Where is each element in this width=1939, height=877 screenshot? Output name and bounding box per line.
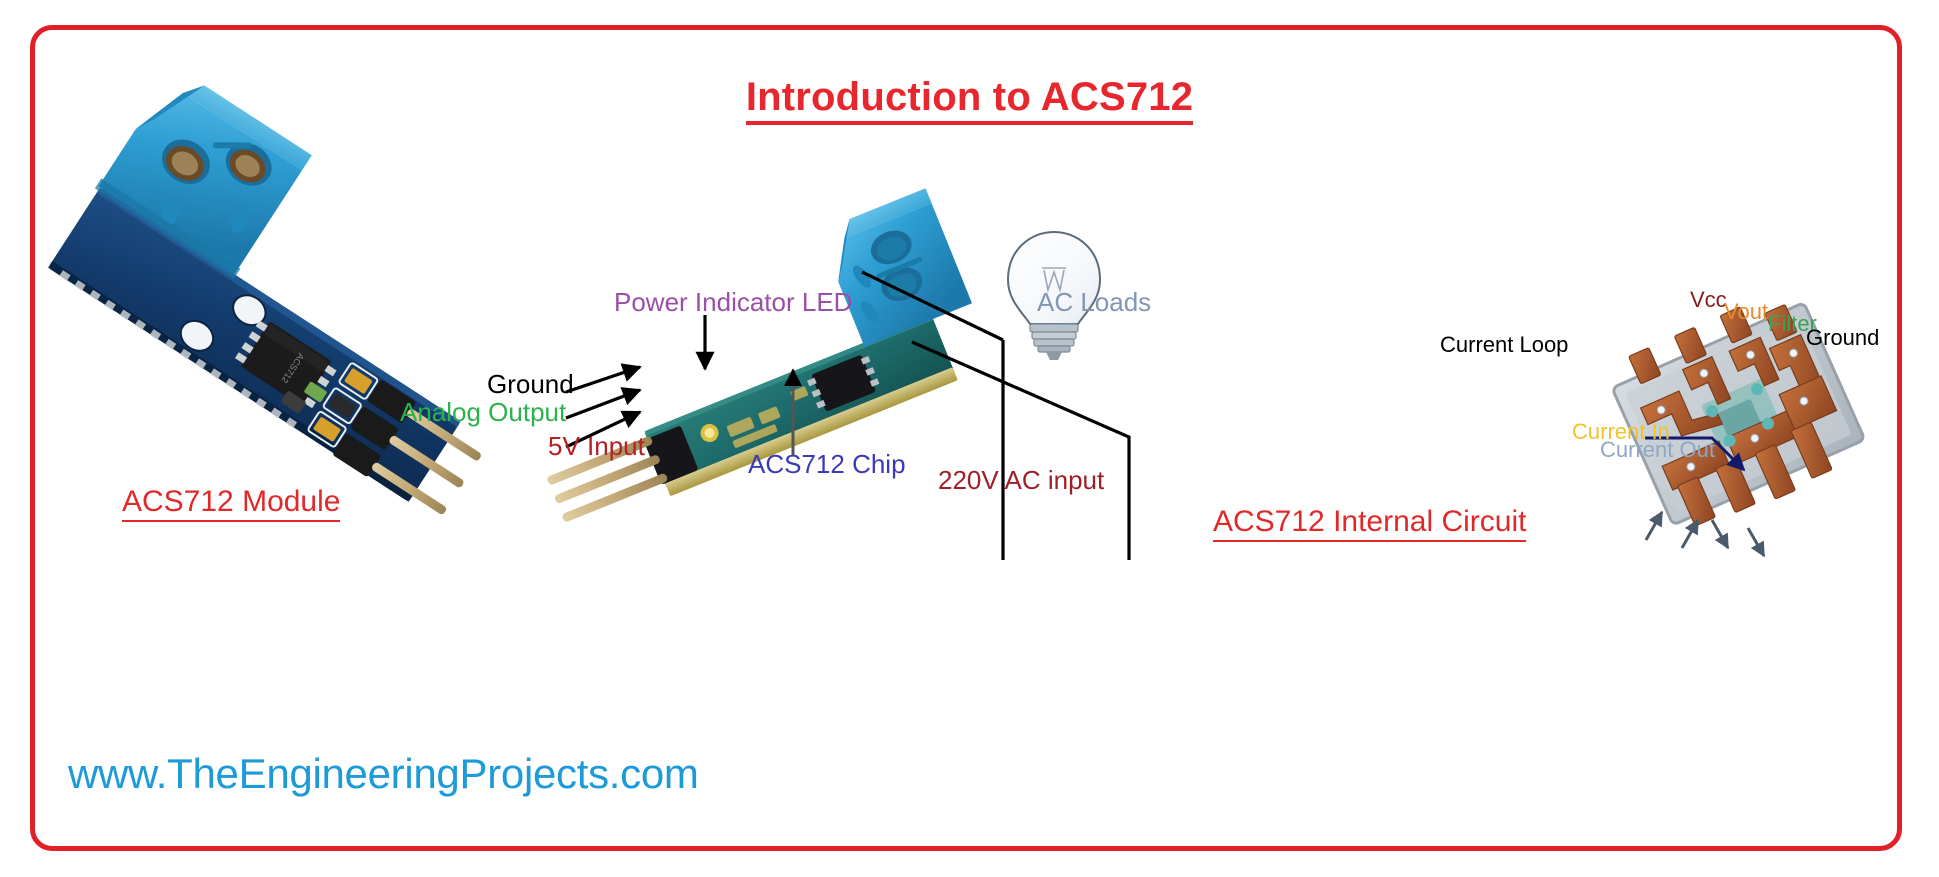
label-acs712-chip: ACS712 Chip [748,450,906,479]
page-title-text: Introduction to ACS712 [746,76,1193,125]
label-5v-input: 5V Input [548,432,645,461]
caption-acs712-module: ACS712 Module [122,485,340,522]
caption-acs712-internal-circuit: ACS712 Internal Circuit [1213,505,1526,542]
label-vout: Vout [1724,300,1768,324]
label-power-indicator-led: Power Indicator LED [614,288,852,317]
label-vcc: Vcc [1690,288,1727,312]
label-internal-ground: Ground [1806,326,1879,350]
label-current-loop: Current Loop [1440,333,1568,357]
label-ac-loads: AC Loads [1037,288,1151,317]
label-ground: Ground [487,370,574,399]
label-220v-ac-input: 220V AC input [938,466,1104,495]
caption-acs712-internal-circuit-text: ACS712 Internal Circuit [1213,505,1526,542]
label-analog-output: Analog Output [400,398,566,427]
website-url[interactable]: www.TheEngineeringProjects.com [68,750,699,798]
label-current-out: Current Out [1600,438,1715,462]
caption-acs712-module-text: ACS712 Module [122,485,340,522]
poster-canvas: Introduction to ACS712 [0,0,1939,877]
page-title: Introduction to ACS712 [0,75,1939,125]
